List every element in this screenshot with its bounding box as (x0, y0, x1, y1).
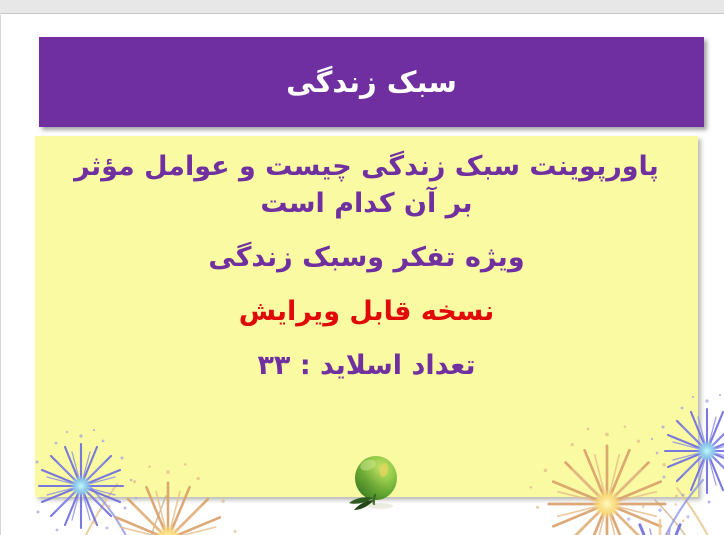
body-line-2: بر آن کدام است (35, 185, 698, 222)
body-line-editable-notice: نسخه قابل ویرایش (35, 293, 698, 330)
window-top-strip (0, 0, 724, 14)
body-line-slide-count: تعداد اسلاید : ۳۳ (35, 347, 698, 384)
firework-blue-top-left (35, 429, 137, 535)
slide-title-text: سبک زندگی (286, 65, 457, 99)
fireworks-artwork (35, 136, 724, 535)
firework-blue-top-right (651, 394, 724, 504)
slide-preview-window: سبک زندگی (0, 0, 724, 535)
firework-mixed-bottom-right (589, 503, 724, 535)
firework-orange-mid-left (93, 463, 242, 535)
firework-orange-mid-right (529, 425, 684, 535)
body-line-3: ویژه تفکر وسبک زندگی (35, 239, 698, 276)
slide-canvas: سبک زندگی (0, 15, 724, 535)
slide-title-box: سبک زندگی (39, 37, 704, 127)
slide-body-panel: پاورپوینت سبک زندگی چیست و عوامل مؤثر بر… (35, 136, 698, 497)
slide-body-text: پاورپوینت سبک زندگی چیست و عوامل مؤثر بر… (35, 136, 698, 384)
body-line-1: پاورپوینت سبک زندگی چیست و عوامل مؤثر (35, 148, 698, 185)
